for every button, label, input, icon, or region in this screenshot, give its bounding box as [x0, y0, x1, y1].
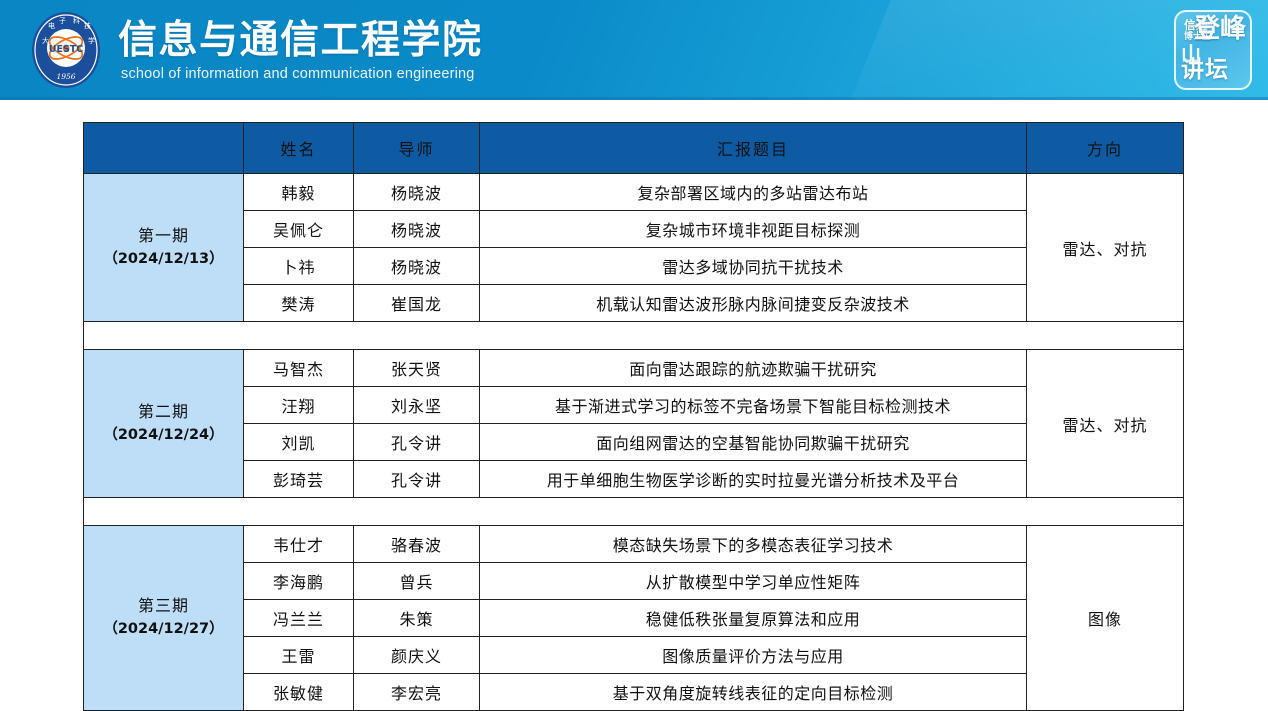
cell-title: 雷达多域协同抗干扰技术 — [480, 248, 1027, 285]
table-row: 卜祎 杨晓波 雷达多域协同抗干扰技术 — [84, 248, 1184, 285]
session-spacer-row — [84, 498, 1184, 526]
cell-advisor: 杨晓波 — [354, 211, 480, 248]
svg-text:学: 学 — [88, 36, 95, 45]
cell-advisor: 骆春波 — [354, 526, 480, 563]
table-header-row: 姓名 导师 汇报题目 方向 — [84, 123, 1184, 174]
table-row: 汪翔 刘永坚 基于渐进式学习的标签不完备场景下智能目标检测技术 — [84, 387, 1184, 424]
cell-name: 刘凯 — [244, 424, 354, 461]
cell-advisor: 杨晓波 — [354, 174, 480, 211]
cell-name: 吴佩仑 — [244, 211, 354, 248]
org-name-en: school of information and communication … — [118, 64, 483, 84]
cell-name: 卜祎 — [244, 248, 354, 285]
cell-name: 马智杰 — [244, 350, 354, 387]
cell-title: 用于单细胞生物医学诊断的实时拉曼光谱分析技术及平台 — [480, 461, 1027, 498]
table-row: 第二期 （2024/12/24） 马智杰 张天贤 面向雷达跟踪的航迹欺骗干扰研究… — [84, 350, 1184, 387]
svg-text:1956: 1956 — [56, 72, 75, 81]
uestc-seal-logo: UESTC 1956 电子 科技 大学 — [28, 10, 104, 90]
brand-block: UESTC 1956 电子 科技 大学 信息与通信工程学院 school of … — [28, 10, 483, 90]
svg-text:科: 科 — [73, 16, 80, 25]
col-header-name: 姓名 — [244, 123, 354, 174]
table-row: 樊涛 崔国龙 机载认知雷达波形脉内脉间捷变反杂波技术 — [84, 285, 1184, 322]
cell-name: 樊涛 — [244, 285, 354, 322]
cell-title: 面向组网雷达的空基智能协同欺骗干扰研究 — [480, 424, 1027, 461]
spacer-cell — [84, 498, 1184, 526]
col-header-term — [84, 123, 244, 174]
cell-advisor: 杨晓波 — [354, 248, 480, 285]
cell-title: 复杂部署区域内的多站雷达布站 — [480, 174, 1027, 211]
table-row: 张敏健 李宏亮 基于双角度旋转线表征的定向目标检测 — [84, 674, 1184, 711]
svg-text:UESTC: UESTC — [49, 44, 84, 55]
cell-name: 张敏健 — [244, 674, 354, 711]
schedule-sheet: 姓名 导师 汇报题目 方向 第一期 （2024/12/13） 韩毅 杨晓波 复杂… — [0, 100, 1268, 699]
table-row: 吴佩仑 杨晓波 复杂城市环境非视距目标探测 — [84, 211, 1184, 248]
cell-advisor: 张天贤 — [354, 350, 480, 387]
cell-name: 李海鹏 — [244, 563, 354, 600]
svg-text:技: 技 — [84, 21, 91, 30]
session-date-label: （2024/12/13） — [84, 248, 243, 271]
cell-direction: 雷达、对抗 — [1027, 350, 1184, 498]
cell-title: 图像质量评价方法与应用 — [480, 637, 1027, 674]
session-term-label: 第三期 — [84, 595, 243, 618]
table-row: 冯兰兰 朱策 稳健低秩张量复原算法和应用 — [84, 600, 1184, 637]
cell-advisor: 颜庆义 — [354, 637, 480, 674]
session-date-label: （2024/12/24） — [84, 424, 243, 447]
cell-title: 机载认知雷达波形脉内脉间捷变反杂波技术 — [480, 285, 1027, 322]
table-row: 彭琦芸 孔令讲 用于单细胞生物医学诊断的实时拉曼光谱分析技术及平台 — [84, 461, 1184, 498]
cell-name: 韦仕才 — [244, 526, 354, 563]
badge-main-text: 登峰 — [1194, 16, 1246, 42]
table-row: 李海鹏 曾兵 从扩散模型中学习单应性矩阵 — [84, 563, 1184, 600]
cell-title: 面向雷达跟踪的航迹欺骗干扰研究 — [480, 350, 1027, 387]
table-row: 刘凯 孔令讲 面向组网雷达的空基智能协同欺骗干扰研究 — [84, 424, 1184, 461]
cell-title: 稳健低秩张量复原算法和应用 — [480, 600, 1027, 637]
cell-title: 基于渐进式学习的标签不完备场景下智能目标检测技术 — [480, 387, 1027, 424]
table-row: 第一期 （2024/12/13） 韩毅 杨晓波 复杂部署区域内的多站雷达布站 雷… — [84, 174, 1184, 211]
cell-direction: 雷达、对抗 — [1027, 174, 1184, 322]
forum-badge-logo: 信通 博士生 登峰 山 讲坛 — [1174, 10, 1252, 90]
cell-title: 基于双角度旋转线表征的定向目标检测 — [480, 674, 1027, 711]
session-term-cell: 第三期 （2024/12/27） — [84, 526, 244, 711]
session-term-cell: 第二期 （2024/12/24） — [84, 350, 244, 498]
cell-name: 彭琦芸 — [244, 461, 354, 498]
org-name-cn: 信息与通信工程学院 — [118, 18, 483, 64]
cell-name: 王雷 — [244, 637, 354, 674]
col-header-advisor: 导师 — [354, 123, 480, 174]
table-row: 第三期 （2024/12/27） 韦仕才 骆春波 模态缺失场景下的多模态表征学习… — [84, 526, 1184, 563]
cell-advisor: 朱策 — [354, 600, 480, 637]
col-header-direction: 方向 — [1027, 123, 1184, 174]
col-header-title: 汇报题目 — [480, 123, 1027, 174]
cell-name: 汪翔 — [244, 387, 354, 424]
cell-advisor: 崔国龙 — [354, 285, 480, 322]
session-term-label: 第一期 — [84, 225, 243, 248]
session-term-cell: 第一期 （2024/12/13） — [84, 174, 244, 322]
cell-advisor: 李宏亮 — [354, 674, 480, 711]
cell-title: 模态缺失场景下的多模态表征学习技术 — [480, 526, 1027, 563]
cell-direction: 图像 — [1027, 526, 1184, 711]
cell-advisor: 孔令讲 — [354, 424, 480, 461]
cell-advisor: 孔令讲 — [354, 461, 480, 498]
spacer-cell — [84, 322, 1184, 350]
table-row: 王雷 颜庆义 图像质量评价方法与应用 — [84, 637, 1184, 674]
session-spacer-row — [84, 322, 1184, 350]
cell-title: 复杂城市环境非视距目标探测 — [480, 211, 1027, 248]
cell-name: 韩毅 — [244, 174, 354, 211]
page-banner: UESTC 1956 电子 科技 大学 信息与通信工程学院 school of … — [0, 0, 1268, 100]
schedule-table: 姓名 导师 汇报题目 方向 第一期 （2024/12/13） 韩毅 杨晓波 复杂… — [83, 122, 1184, 711]
cell-title: 从扩散模型中学习单应性矩阵 — [480, 563, 1027, 600]
session-term-label: 第二期 — [84, 401, 243, 424]
svg-text:子: 子 — [59, 17, 66, 25]
svg-text:大: 大 — [42, 36, 49, 45]
schedule-body: 第一期 （2024/12/13） 韩毅 杨晓波 复杂部署区域内的多站雷达布站 雷… — [84, 174, 1184, 711]
cell-name: 冯兰兰 — [244, 600, 354, 637]
svg-text:电: 电 — [48, 21, 55, 30]
badge-bottom-text: 讲坛 — [1181, 58, 1229, 83]
session-date-label: （2024/12/27） — [84, 618, 243, 641]
cell-advisor: 刘永坚 — [354, 387, 480, 424]
cell-advisor: 曾兵 — [354, 563, 480, 600]
brand-text: 信息与通信工程学院 school of information and comm… — [118, 16, 483, 84]
